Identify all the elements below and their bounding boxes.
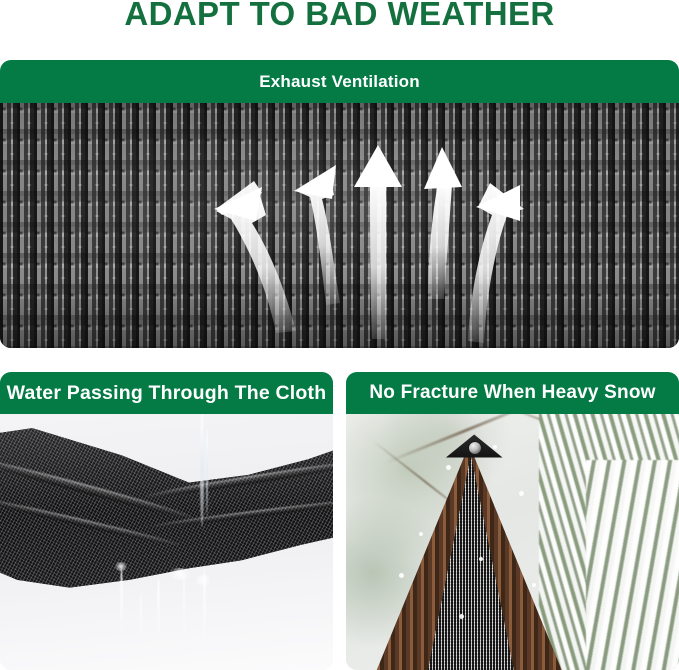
airflow-arrows [0, 103, 679, 348]
page-title: ADAPT TO BAD WEATHER [0, 0, 679, 34]
panel-no-fracture-snow: No Fracture When Heavy Snow [346, 372, 679, 670]
airflow-arrow-1 [214, 181, 296, 333]
banner-exhaust-ventilation: Exhaust Ventilation [0, 60, 679, 103]
plant-cover-grommet-icon [468, 441, 482, 455]
water-drip [157, 578, 160, 650]
snow-fleck [419, 532, 423, 536]
banner-no-fracture-snow: No Fracture When Heavy Snow [346, 372, 679, 414]
airflow-arrow-2 [294, 165, 340, 305]
banner-label-exhaust-ventilation: Exhaust Ventilation [259, 72, 420, 92]
snow-fleck [459, 614, 464, 619]
banner-label-water-passing: Water Passing Through The Cloth [7, 382, 327, 405]
snowy-evergreen-branches-foreground [586, 460, 679, 670]
airflow-arrow-4 [468, 183, 524, 343]
water-drip [140, 593, 142, 649]
photo-exhaust-ventilation [0, 103, 679, 348]
water-splash [167, 568, 193, 580]
photo-water-passing [0, 414, 333, 670]
airflow-arrow-5 [424, 147, 462, 299]
snow-fleck [519, 491, 524, 496]
water-drip [120, 568, 123, 645]
snow-fleck [493, 445, 497, 449]
water-stream [200, 414, 204, 527]
panel-exhaust-ventilation: Exhaust Ventilation [0, 60, 679, 348]
airflow-arrow-3 [354, 145, 402, 339]
photo-no-fracture-snow [346, 414, 679, 670]
panel-water-passing: Water Passing Through The Cloth [0, 372, 333, 670]
snow-fleck [399, 573, 404, 578]
banner-water-passing: Water Passing Through The Cloth [0, 372, 333, 414]
banner-label-no-fracture-snow: No Fracture When Heavy Snow [369, 382, 655, 404]
